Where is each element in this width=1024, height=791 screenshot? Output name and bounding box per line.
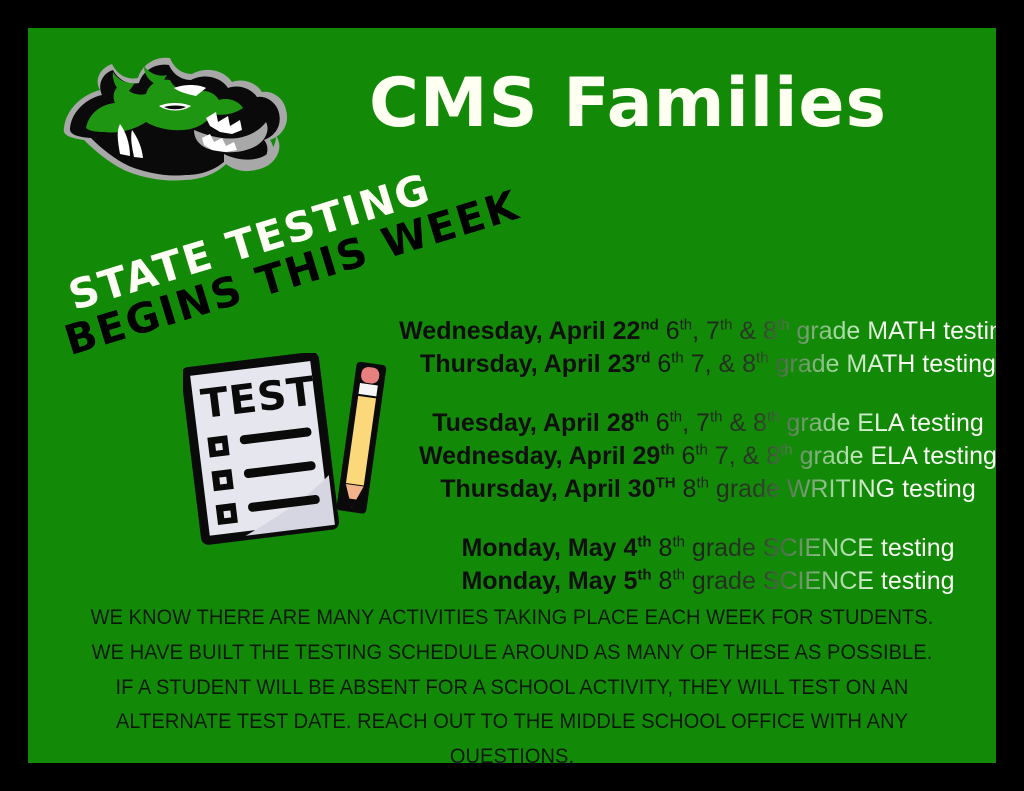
schedule-group: Tuesday, April 28th 6th, 7th & 8th grade… xyxy=(398,407,996,506)
schedule-date: Tuesday, April 28th xyxy=(432,409,649,437)
schedule-detail: 8th grade WRITING testing xyxy=(676,475,976,503)
schedule-line: Thursday, April 30TH 8th grade WRITING t… xyxy=(398,473,996,506)
poster-root: CMS Families STATE TESTING BEGINS THIS W… xyxy=(0,0,1024,791)
schedule-date: Thursday, April 30TH xyxy=(440,475,675,503)
schedule-detail: 8th grade SCIENCE testing xyxy=(652,567,955,595)
schedule-group: Monday, May 4th 8th grade SCIENCE testin… xyxy=(398,532,996,598)
schedule-detail: 8th grade SCIENCE testing xyxy=(652,534,955,562)
schedule-line: Monday, May 4th 8th grade SCIENCE testin… xyxy=(398,532,996,565)
schedule-line: Thursday, April 23rd 6th 7, & 8th grade … xyxy=(398,348,996,381)
schedule-date: Monday, May 4th xyxy=(461,534,651,562)
footnote-paragraph: WE KNOW THERE ARE MANY ACTIVITIES TAKING… xyxy=(90,600,934,763)
schedule-detail: 6th 7, & 8th grade ELA testing xyxy=(675,442,997,470)
schedule-group: Wednesday, April 22nd 6th, 7th & 8th gra… xyxy=(398,315,996,381)
schedule-detail: 6th, 7th & 8th grade MATH testing xyxy=(659,317,996,345)
schedule-line: Tuesday, April 28th 6th, 7th & 8th grade… xyxy=(398,407,996,440)
schedule-line: Wednesday, April 22nd 6th, 7th & 8th gra… xyxy=(398,315,996,348)
test-paper-and-pencil-illustration: TEST xyxy=(183,353,403,548)
green-canvas: CMS Families STATE TESTING BEGINS THIS W… xyxy=(28,28,996,763)
schedule-detail: 6th, 7th & 8th grade ELA testing xyxy=(649,409,984,437)
schedule-date: Wednesday, April 29th xyxy=(419,442,674,470)
schedule-line: Wednesday, April 29th 6th 7, & 8th grade… xyxy=(398,440,996,473)
schedule-date: Wednesday, April 22nd xyxy=(399,317,659,345)
testing-schedule: Wednesday, April 22nd 6th, 7th & 8th gra… xyxy=(398,315,996,598)
page-title: CMS Families xyxy=(328,68,928,139)
dragon-mascot-logo xyxy=(56,50,296,200)
schedule-line: Monday, May 5th 8th grade SCIENCE testin… xyxy=(398,565,996,598)
schedule-date: Thursday, April 23rd xyxy=(420,350,650,378)
schedule-detail: 6th 7, & 8th grade MATH testing xyxy=(650,350,996,378)
schedule-date: Monday, May 5th xyxy=(461,567,651,595)
